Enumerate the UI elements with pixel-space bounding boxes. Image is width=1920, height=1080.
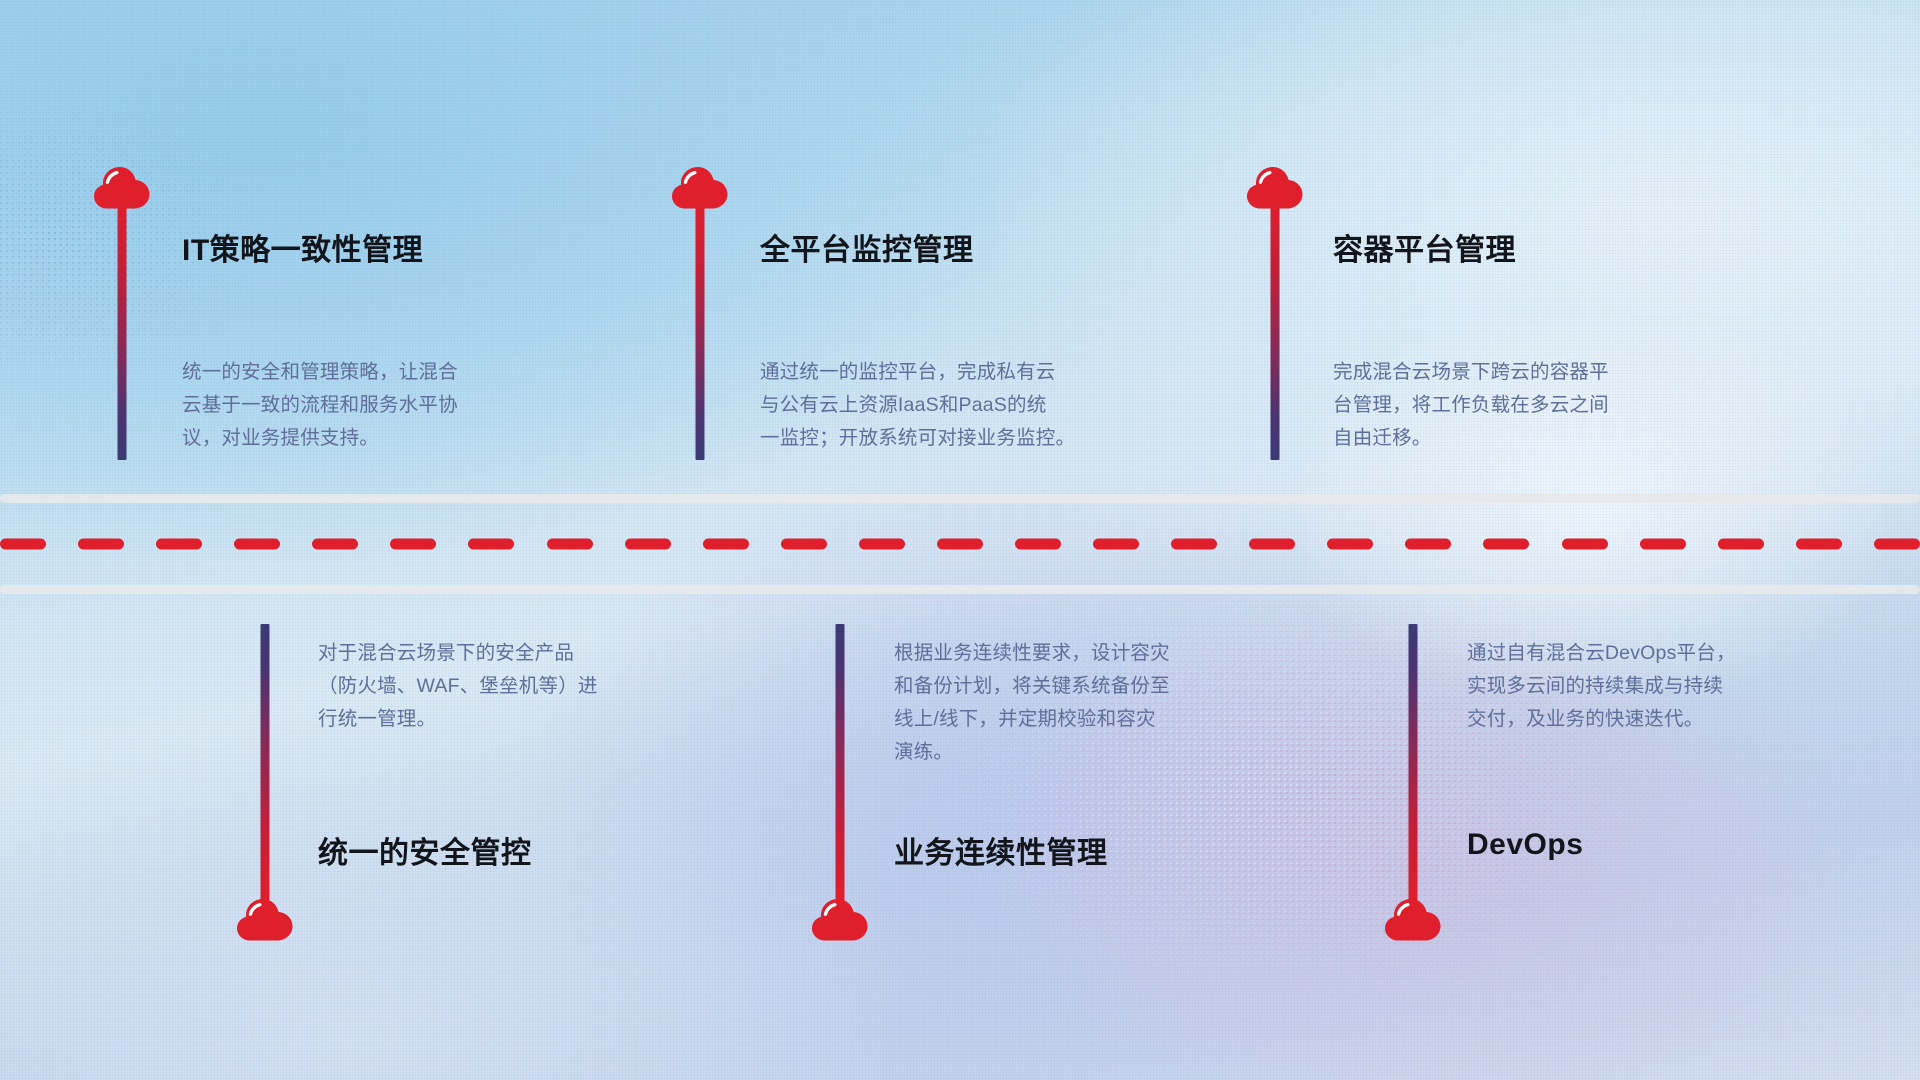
divider-dash [0,539,46,550]
divider-dash [781,539,827,550]
cloud-pin-icon [234,894,296,942]
column-body-devops: 通过自有混合云DevOps平台， 实现多云间的持续集成与持续 交付，及业务的快速… [1467,637,1907,736]
pin-stem [696,202,705,460]
column-title-devops: DevOps [1467,828,1583,862]
column-title-unified-security: 统一的安全管控 [318,828,532,872]
divider-dash [703,539,749,550]
divider-dash [312,539,358,550]
divider-dash [1796,539,1842,550]
divider-dash [1718,539,1764,550]
divider-dash [1405,539,1451,550]
divider-dash [78,539,124,550]
divider-dash [547,539,593,550]
infographic-stage: IT策略一致性管理 统一的安全和管理策略，让混合 云基于一致的流程和服务水平协 … [0,0,1920,1080]
pin-stem [836,624,845,902]
column-body-business-continuity: 根据业务连续性要求，设计容灾 和备份计划，将关键系统备份至 线上/线下，并定期校… [894,637,1334,769]
divider-dash [1249,539,1295,550]
divider-dash [390,539,436,550]
cloud-pin-icon [809,894,871,942]
divider-dash [859,539,905,550]
divider-dashes [0,539,1920,550]
pin-stem [261,624,270,902]
divider-dash [625,539,671,550]
cloud-pin-icon [1382,894,1444,942]
column-title-business-continuity: 业务连续性管理 [894,828,1108,872]
pin-stem [118,202,127,460]
column-title-it-policy-consistency: IT策略一致性管理 [182,225,423,269]
pin-stem [1271,202,1280,460]
pin-stem [1409,624,1418,902]
divider-rail-bottom [0,585,1920,594]
column-body-unified-security: 对于混合云场景下的安全产品 （防火墙、WAF、堡垒机等）进 行统一管理。 [318,637,758,736]
column-title-container-platform: 容器平台管理 [1333,225,1516,269]
column-body-it-policy-consistency: 统一的安全和管理策略，让混合 云基于一致的流程和服务水平协 议，对业务提供支持。 [182,356,622,455]
divider-dash [1874,539,1920,550]
divider-rail-top [0,494,1920,503]
divider-dash [1171,539,1217,550]
divider-dash [1015,539,1061,550]
column-body-full-platform-monitoring: 通过统一的监控平台，完成私有云 与公有云上资源IaaS和PaaS的统 一监控；开… [760,356,1230,455]
column-title-full-platform-monitoring: 全平台监控管理 [760,225,974,269]
divider-dash [156,539,202,550]
divider-dash [1093,539,1139,550]
divider-dash [234,539,280,550]
column-body-container-platform: 完成混合云场景下跨云的容器平 台管理，将工作负载在多云之间 自由迁移。 [1333,356,1773,455]
divider-dash [1483,539,1529,550]
dashed-road-divider [0,494,1920,594]
divider-dash [468,539,514,550]
divider-dash [1640,539,1686,550]
divider-dash [1562,539,1608,550]
divider-dash [937,539,983,550]
divider-dash [1327,539,1373,550]
